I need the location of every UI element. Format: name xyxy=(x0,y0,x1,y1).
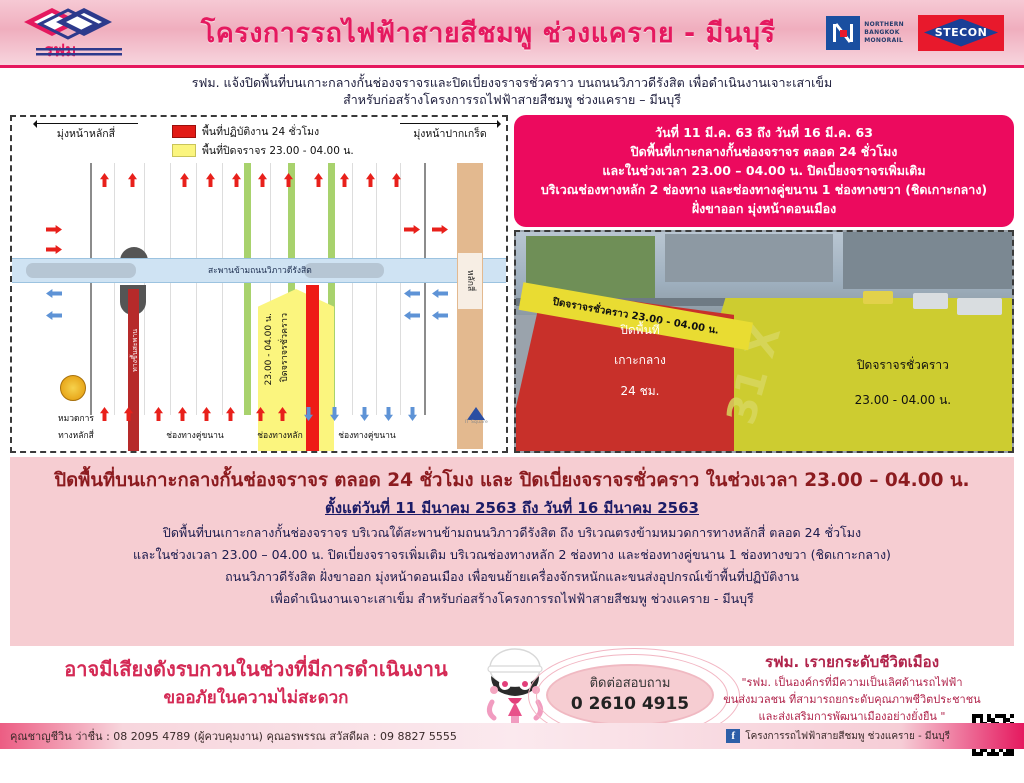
announcement-block: ปิดพื้นที่บนเกาะกลางกั้นช่องจราจร ตลอด 2… xyxy=(10,457,1014,646)
coordinator-contacts: คุณชาญชีวิน ว่าชื่น : 08 2095 4789 (ผู้ค… xyxy=(0,727,457,745)
traffic-arrow-right-icon xyxy=(46,225,62,234)
photo-overpass xyxy=(843,232,1012,289)
site-photo: 31 X ปิดจราจรชั่วคราว 23.00 - 04.00 น. ป… xyxy=(514,230,1014,453)
nbm-mark-icon xyxy=(826,16,860,50)
closure-vertical-label-1: ปิดจราจรชั่วคราว xyxy=(278,313,292,382)
partner-logos: NORTHERN BANGKOK MONORAIL STECON xyxy=(826,15,1004,51)
traffic-arrow-up-icon xyxy=(366,173,375,187)
legend-swatch-yellow-icon xyxy=(172,144,196,157)
traffic-arrow-up-icon xyxy=(128,173,137,187)
traffic-arrow-left-icon xyxy=(432,289,448,298)
it-square-triangle-icon xyxy=(467,407,485,420)
lane-divider xyxy=(222,163,223,415)
traffic-arrow-up-icon xyxy=(154,407,163,421)
poster-header: รฟม โครงการรถไฟฟ้าสายสีชมพู ช่วงแคราย - … xyxy=(0,0,1024,68)
notice-line-2: ปิดพื้นที่เกาะกลางกั้นช่องจราจร ตลอด 24 … xyxy=(520,142,1008,161)
photo-right-label-2: 23.00 - 04.00 น. xyxy=(799,390,1007,410)
it-square-caption: IT Square xyxy=(465,420,488,425)
green-lane-marker xyxy=(244,163,251,415)
apology-line-2: ขออภัยในความไม่สะดวก xyxy=(36,684,476,712)
contact-phone[interactable]: 0 2610 4915 xyxy=(571,693,689,715)
facebook-icon: f xyxy=(726,729,740,743)
lane-divider xyxy=(400,163,401,415)
traffic-arrow-down-icon xyxy=(360,407,369,421)
svg-text:รฟม: รฟม xyxy=(44,41,76,61)
subtitle-line-1: รฟม. แจ้งปิดพื้นที่บนเกาะกลางกั้นช่องจรา… xyxy=(40,74,984,91)
announcement-body-line: และในช่วงเวลา 23.00 – 04.00 น. ปิดเบี่ยง… xyxy=(30,544,994,566)
lane-boundary xyxy=(424,163,426,415)
traffic-arrow-up-icon xyxy=(202,407,211,421)
notice-line-1: วันที่ 11 มี.ค. 63 ถึง วันที่ 16 มี.ค. 6… xyxy=(520,123,1008,142)
traffic-arrow-up-icon xyxy=(226,407,235,421)
announcement-heading: ปิดพื้นที่บนเกาะกลางกั้นช่องจราจร ตลอด 2… xyxy=(30,467,994,495)
graphic-row: พื้นที่ปฏิบัติงาน 24 ชั่วโมง พื้นที่ปิดจ… xyxy=(10,115,1014,453)
page-title: โครงการรถไฟฟ้าสายสีชมพู ช่วงแคราย - มีนบ… xyxy=(140,11,826,54)
nbm-line-3: MONORAIL xyxy=(864,37,904,45)
traffic-arrow-down-icon xyxy=(408,407,417,421)
announcement-body-line: ถนนวิภาวดีรังสิต ฝั่งขาออก มุ่งหน้าดอนเม… xyxy=(30,566,994,588)
traffic-arrow-right-icon xyxy=(432,225,448,234)
arrow-left-icon xyxy=(34,123,138,124)
bridge-label: สะพานข้ามถนนวิภาวดีรังสิต xyxy=(208,263,312,277)
lane-divider xyxy=(352,163,353,415)
traffic-arrow-up-icon xyxy=(232,173,241,187)
traffic-arrow-up-icon xyxy=(100,173,109,187)
contact-label: ติดต่อสอบถาม xyxy=(590,675,671,693)
northern-bangkok-monorail-logo: NORTHERN BANGKOK MONORAIL xyxy=(826,16,904,50)
notice-line-5: ฝั่งขาออก มุ่งหน้าดอนเมือง xyxy=(520,199,1008,218)
station-label-1: หมวดการ xyxy=(40,411,112,425)
mission-body-line: "รฟม. เป็นองค์กรที่มีความเป็นเลิศด้านรถไ… xyxy=(702,674,1002,691)
photo-left-label-3: 24 ชม. xyxy=(566,381,715,401)
nbm-wordmark: NORTHERN BANGKOK MONORAIL xyxy=(864,21,904,45)
nbm-line-1: NORTHERN xyxy=(864,21,904,29)
notice-line-4: บริเวณช่องทางหลัก 2 ช่องทาง และช่องทางคู… xyxy=(520,180,1008,199)
cross-road-label: หลักสี่ xyxy=(458,253,482,309)
stecon-diamond-icon: STECON xyxy=(924,19,998,47)
lane-boundary xyxy=(90,163,92,415)
announcement-date: ตั้งแต่วันที่ 11 มีนาคม 2563 ถึง วันที่ … xyxy=(30,495,994,522)
legend-swatch-red-icon xyxy=(172,125,196,138)
notice-box: วันที่ 11 มี.ค. 63 ถึง วันที่ 16 มี.ค. 6… xyxy=(514,115,1014,227)
traffic-arrow-up-icon xyxy=(206,173,215,187)
facebook-page-name: โครงการรถไฟฟ้าสายสีชมพู ช่วงแคราย - มีนบ… xyxy=(745,729,950,744)
subtitle-block: รฟม. แจ้งปิดพื้นที่บนเกาะกลางกั้นช่องจรา… xyxy=(0,68,1024,112)
photo-taxi xyxy=(863,291,893,304)
station-label-2: ทางหลักสี่ xyxy=(40,428,112,442)
traffic-arrow-up-icon xyxy=(314,173,323,187)
bottom-bar: คุณชาญชีวิน ว่าชื่น : 08 2095 4789 (ผู้ค… xyxy=(0,723,1024,749)
lane-divider xyxy=(376,163,377,415)
bridge-deck xyxy=(26,263,136,278)
apology-line-1: อาจมีเสียงดังรบกวนในช่วงที่มีการดำเนินงา… xyxy=(36,654,476,684)
lane-label: ช่องทางหลัก xyxy=(240,428,320,442)
legend-label: พื้นที่ปิดจราจร 23.00 - 04.00 น. xyxy=(202,142,354,159)
government-seal-icon xyxy=(60,375,86,401)
announcement-body-line: เพื่อดำเนินงานเจาะเสาเข็ม สำหรับก่อสร้าง… xyxy=(30,588,994,610)
traffic-arrow-left-icon xyxy=(432,311,448,320)
traffic-arrow-right-icon xyxy=(404,225,420,234)
poster-footer: อาจมีเสียงดังรบกวนในช่วงที่มีการดำเนินงา… xyxy=(0,646,1024,771)
traffic-arrow-down-icon xyxy=(384,407,393,421)
mission-body-line: ขนส่งมวลชน ที่สามารถยกระดับคุณภาพชีวิตปร… xyxy=(702,691,1002,708)
direction-right: มุ่งหน้าปากเกร็ด xyxy=(400,123,500,142)
traffic-arrow-right-icon xyxy=(46,245,62,254)
bridge-deck xyxy=(304,263,384,278)
mrta-logo: รฟม xyxy=(22,4,140,62)
traffic-arrow-left-icon xyxy=(404,289,420,298)
traffic-arrow-up-icon xyxy=(340,173,349,187)
photo-right-label-1: ปิดจราจรชั่วคราว xyxy=(799,355,1007,375)
photo-building xyxy=(665,234,834,282)
contact-bubble[interactable]: ติดต่อสอบถาม 0 2610 4915 xyxy=(546,664,714,726)
lane-label: ช่องทางคู่ขนาน xyxy=(152,428,238,442)
mission-block: รฟม. เรายกระดับชีวิตเมือง "รฟม. เป็นองค์… xyxy=(702,650,1002,725)
legend-label: พื้นที่ปฏิบัติงาน 24 ชั่วโมง xyxy=(202,123,319,140)
facebook-link[interactable]: f โครงการรถไฟฟ้าสายสีชมพู ช่วงแคราย - มี… xyxy=(726,729,1024,744)
traffic-arrow-up-icon xyxy=(258,173,267,187)
stecon-label: STECON xyxy=(935,26,988,39)
map-legend: พื้นที่ปฏิบัติงาน 24 ชั่วโมง พื้นที่ปิดจ… xyxy=(172,123,354,161)
legend-item: พื้นที่ปฏิบัติงาน 24 ชั่วโมง xyxy=(172,123,354,140)
announcement-body-line: ปิดพื้นที่บนเกาะกลางกั้นช่องจราจร บริเวณ… xyxy=(30,522,994,544)
stecon-logo: STECON xyxy=(918,15,1004,51)
lane-divider xyxy=(114,163,115,415)
arrow-right-icon xyxy=(400,123,500,124)
apology-block: อาจมีเสียงดังรบกวนในช่วงที่มีการดำเนินงา… xyxy=(36,654,476,712)
traffic-arrow-up-icon xyxy=(180,173,189,187)
traffic-diagram: พื้นที่ปฏิบัติงาน 24 ชั่วโมง พื้นที่ปิดจ… xyxy=(10,115,508,453)
photo-left-label-2: เกาะกลาง xyxy=(566,350,715,370)
photo-left-label-1: ปิดพื้นที่ xyxy=(566,320,715,340)
right-column: วันที่ 11 มี.ค. 63 ถึง วันที่ 16 มี.ค. 6… xyxy=(514,115,1014,453)
ramp-vertical-label: ทางขึ้นสะพาน xyxy=(129,329,140,372)
notice-line-3: และในช่วงเวลา 23.00 – 04.00 น. ปิดเบี่ยง… xyxy=(520,161,1008,180)
mission-heading: รฟม. เรายกระดับชีวิตเมือง xyxy=(702,650,1002,674)
traffic-arrow-left-icon xyxy=(404,311,420,320)
direction-left: มุ่งหน้าหลักสี่ xyxy=(34,123,138,142)
nbm-line-2: BANGKOK xyxy=(864,29,904,37)
closure-vertical-label-2: 23.00 - 04.00 น. xyxy=(262,313,276,385)
traffic-arrow-left-icon xyxy=(46,289,62,298)
photo-vehicle xyxy=(913,293,948,308)
lane-label: ช่องทางคู่ขนาน xyxy=(324,428,410,442)
traffic-arrow-left-icon xyxy=(46,311,62,320)
it-square-landmark-icon: IT Square xyxy=(465,407,488,425)
lane-divider xyxy=(170,163,171,415)
lane-divider xyxy=(196,163,197,415)
photo-vehicle xyxy=(957,298,1002,316)
subtitle-line-2: สำหรับก่อสร้างโครงการรถไฟฟ้าสายสีชมพู ช่… xyxy=(40,91,984,108)
traffic-arrow-up-icon xyxy=(178,407,187,421)
legend-item: พื้นที่ปิดจราจร 23.00 - 04.00 น. xyxy=(172,142,354,159)
